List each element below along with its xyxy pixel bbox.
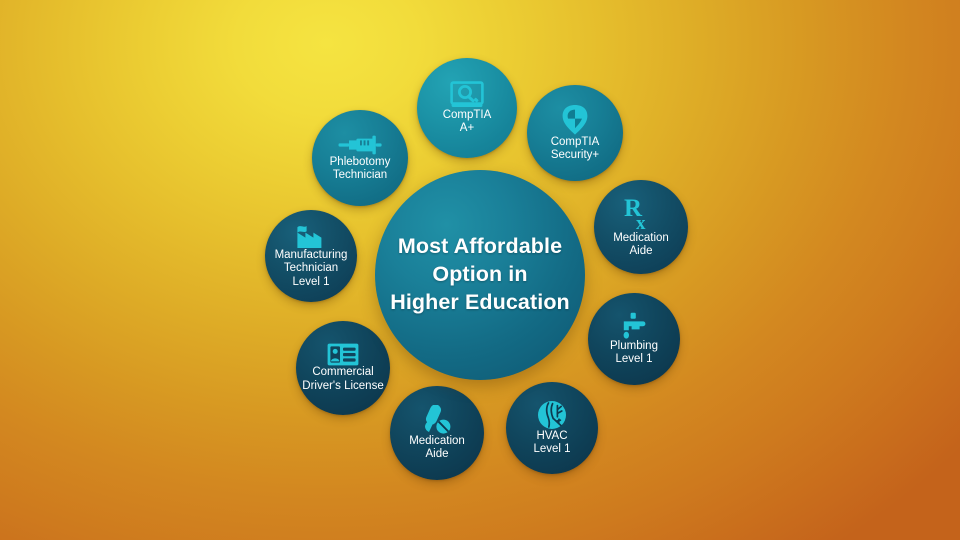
node-plumbing-level-1[interactable]: Plumbing Level 1 [588,293,680,385]
node-hvac-level-1[interactable]: HVAC Level 1 [506,382,598,474]
hub-line-3: Higher Education [386,289,574,317]
hub-line-1: Most Affordable [394,233,566,261]
pills-icon [422,405,452,435]
id-card-icon [327,343,359,366]
node-phlebotomy-technician[interactable]: Phlebotomy Technician [312,110,408,206]
node-manufacturing-technician[interactable]: Manufacturing Technician Level 1 [265,210,357,302]
syringe-icon [338,134,382,156]
svg-text:x: x [636,213,646,232]
node-medication-aide-rx[interactable]: R x Medication Aide [594,180,688,274]
shield-quadrant-icon [561,104,589,136]
node-label-line-2: A+ [456,122,478,135]
node-label-line-2: Technician [329,169,391,182]
node-label-line-1: Medication [405,435,469,448]
node-medication-aide-pills[interactable]: Medication Aide [390,386,484,480]
node-label-line-2: Aide [625,245,656,258]
node-label-line-3: Level 1 [288,276,333,289]
hub-line-2: Option in [428,261,531,289]
factory-icon [296,223,326,249]
infographic-canvas: Most Affordable Option in Higher Educati… [0,0,960,540]
rx-prescription-icon: R x [623,196,659,232]
node-commercial-drivers-license[interactable]: Commercial Driver's License [296,321,390,415]
node-label-line-2: Level 1 [529,443,574,456]
node-label-line-1: Manufacturing [271,249,352,262]
node-label-line-2: Aide [421,448,452,461]
node-comptia-a-plus[interactable]: CompTIA A+ [417,58,517,158]
node-label-line-2: Technician [280,262,342,275]
node-label-line-1: Commercial [308,366,377,379]
node-comptia-security-plus[interactable]: CompTIA Security+ [527,85,623,181]
center-hub: Most Affordable Option in Higher Educati… [375,170,585,380]
node-label-line-1: Medication [609,232,673,245]
node-label-line-1: Plumbing [606,340,662,353]
node-label-line-1: CompTIA [547,136,604,149]
snowflake-airflow-icon [537,400,567,430]
monitor-magnifier-icon [450,81,484,109]
node-label-line-1: CompTIA [439,109,496,122]
node-label-line-1: HVAC [532,430,571,443]
node-label-line-2: Driver's License [298,380,387,393]
node-label-line-2: Security+ [547,149,603,162]
node-label-line-1: Phlebotomy [326,156,395,169]
faucet-icon [619,312,649,340]
node-label-line-2: Level 1 [611,353,656,366]
